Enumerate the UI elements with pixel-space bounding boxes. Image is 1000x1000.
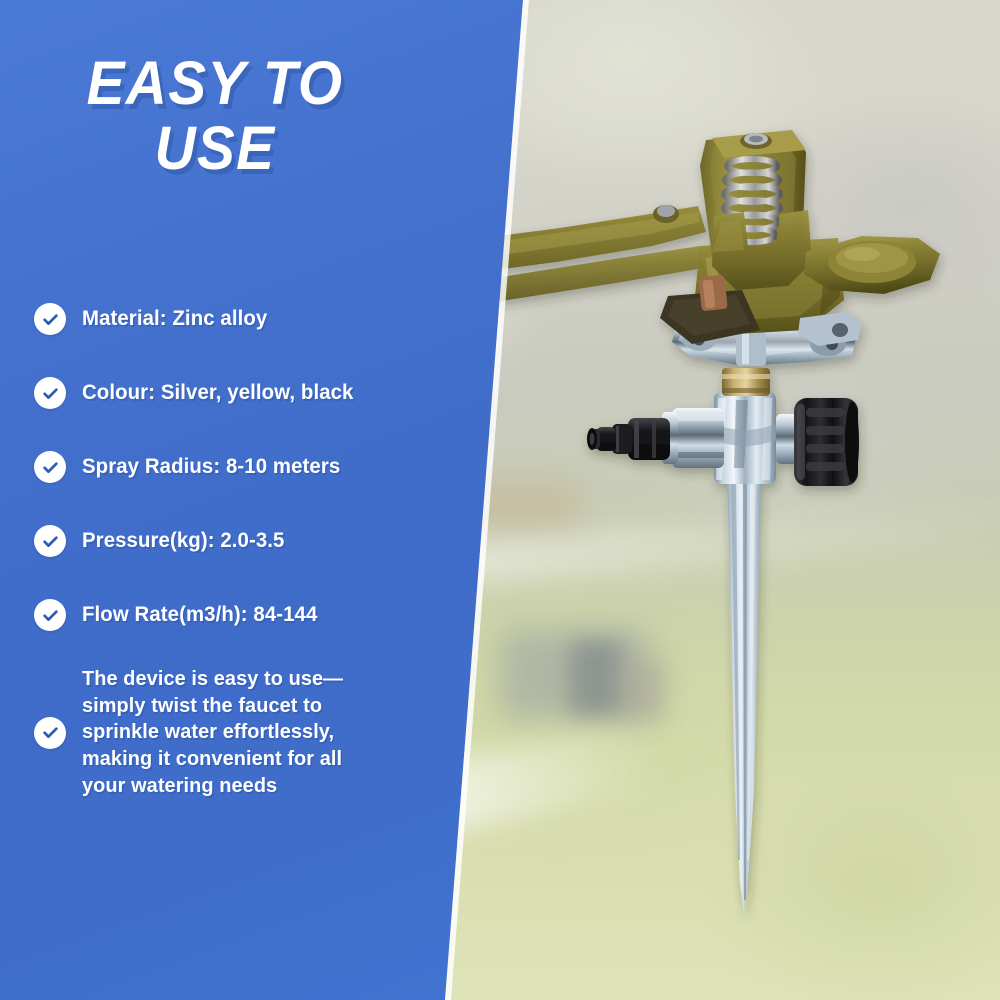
feature-label: Flow Rate(m3/h): 84-144	[82, 602, 317, 628]
feature-item-spray-radius: Spray Radius: 8-10 meters	[34, 444, 424, 490]
background-blur-object-c	[620, 660, 666, 720]
check-circle-icon	[34, 377, 66, 409]
feature-label: Material: Zinc alloy	[82, 306, 267, 332]
feature-label: The device is easy to use—simply twist t…	[82, 666, 363, 799]
check-circle-icon	[34, 451, 66, 483]
title-line-1: EASY TO	[15, 54, 415, 113]
title-line-2: USE	[15, 119, 415, 178]
infographic-canvas: EASY TO USE Material: Zinc alloy Colour:…	[0, 0, 1000, 1000]
check-circle-icon	[34, 717, 66, 749]
check-circle-icon	[34, 525, 66, 557]
feature-list: Material: Zinc alloy Colour: Silver, yel…	[34, 296, 424, 827]
feature-label: Colour: Silver, yellow, black	[82, 380, 353, 406]
check-circle-icon	[34, 599, 66, 631]
feature-item-colour: Colour: Silver, yellow, black	[34, 370, 424, 416]
feature-item-pressure: Pressure(kg): 2.0-3.5	[34, 518, 424, 564]
check-circle-icon	[34, 303, 66, 335]
feature-item-description: The device is easy to use—simply twist t…	[34, 666, 424, 799]
feature-item-material: Material: Zinc alloy	[34, 296, 424, 342]
feature-label: Pressure(kg): 2.0-3.5	[82, 528, 284, 554]
feature-item-flow-rate: Flow Rate(m3/h): 84-144	[34, 592, 424, 638]
page-title: EASY TO USE	[0, 54, 430, 177]
feature-label: Spray Radius: 8-10 meters	[82, 454, 340, 480]
background-blur-object-b	[570, 640, 622, 716]
